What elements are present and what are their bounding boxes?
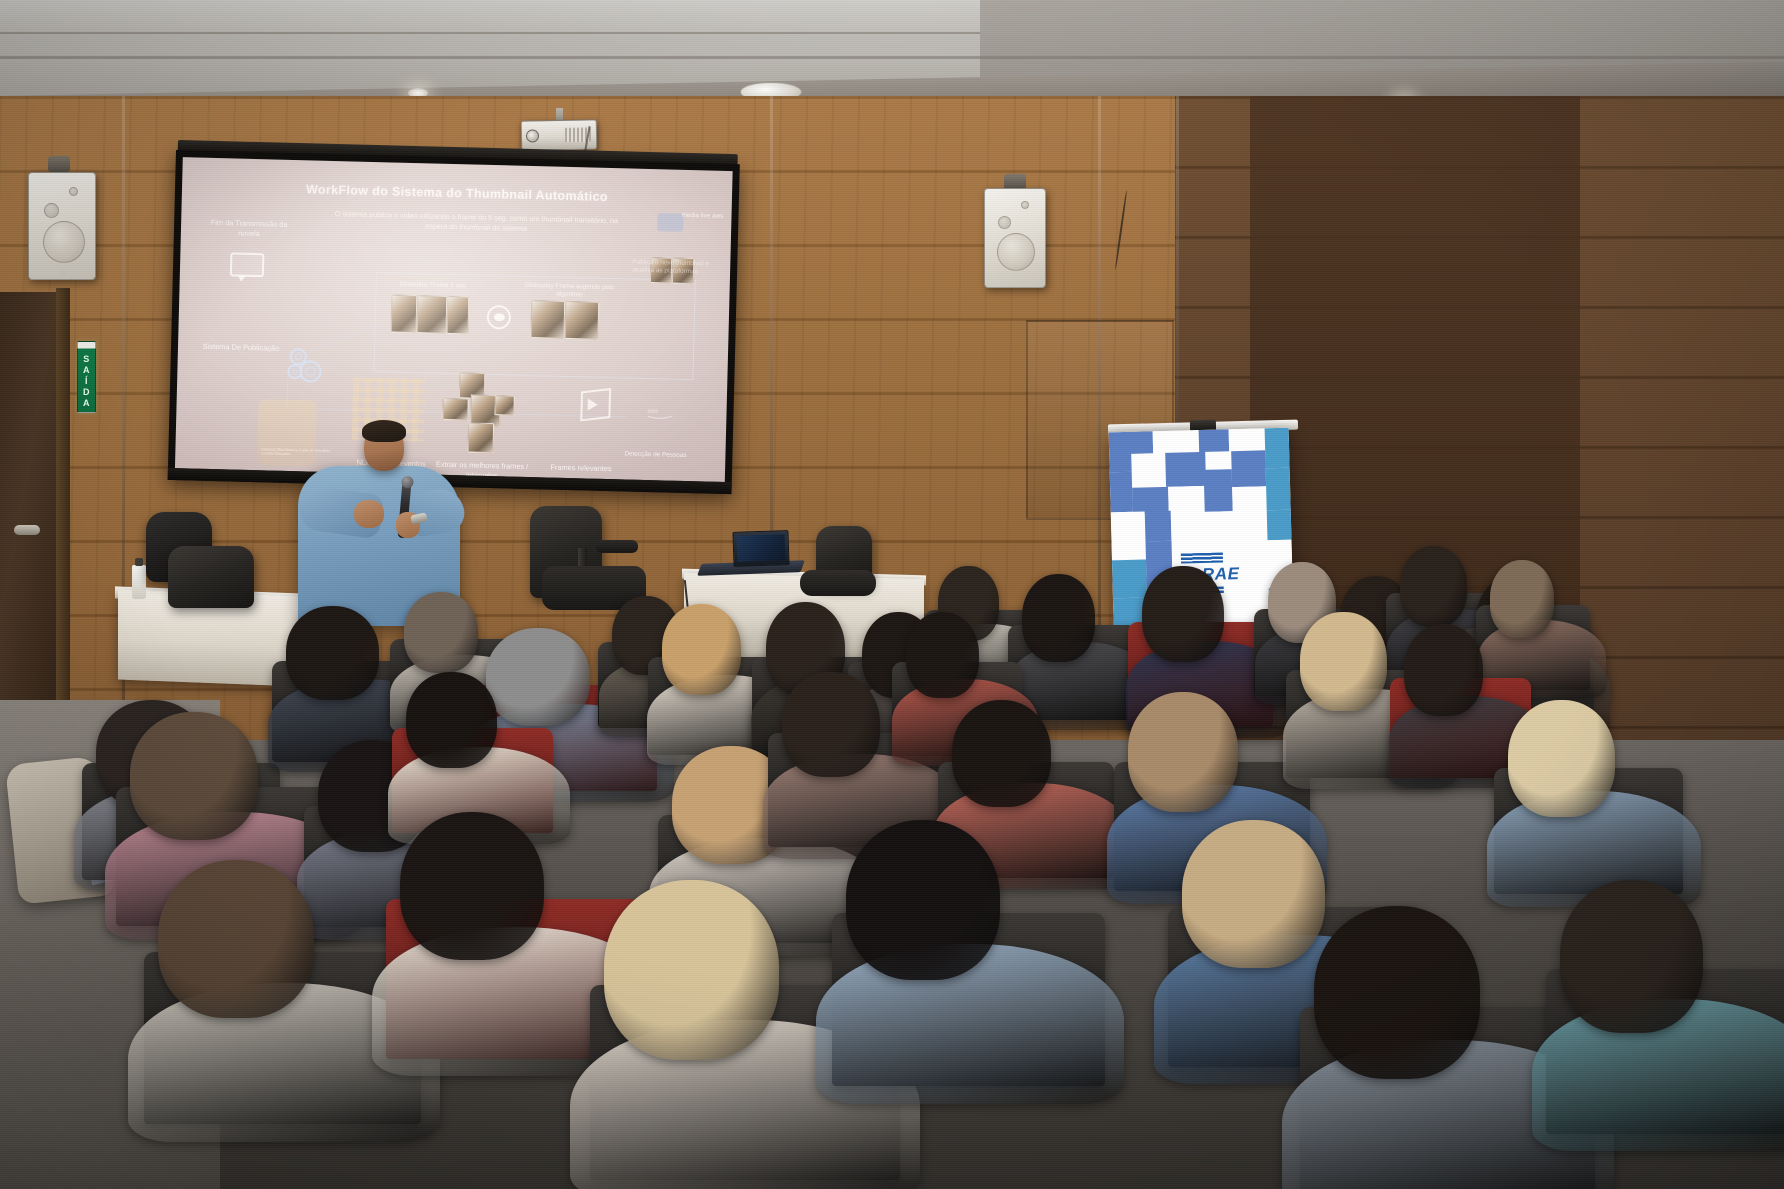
projector-lens-icon [526, 129, 539, 142]
woofer-icon [43, 221, 85, 263]
slide-label-end-broadcast: Fim da Transmissão da novela [209, 218, 289, 239]
frame-thumbnail [446, 296, 469, 335]
audience-head [906, 612, 979, 698]
projection-screen: WorkFlow do Sistema do Thumbnail Automát… [168, 150, 740, 494]
audience-head [1400, 546, 1467, 627]
audience-head [662, 604, 741, 695]
office-chair-armrest [596, 540, 638, 553]
audience-head [130, 712, 258, 840]
frame-thumbnail [530, 300, 565, 339]
wall-speaker-right [984, 188, 1046, 288]
presenter-left-hand [354, 500, 384, 528]
audience-head [952, 700, 1051, 807]
door-handle[interactable] [14, 525, 40, 535]
tweeter-icon [1021, 201, 1029, 209]
slide-title: WorkFlow do Sistema do Thumbnail Automát… [306, 182, 608, 204]
slide-label-frame-suggested: Globoplay Frame sugerido pelo algoritmo [519, 282, 619, 301]
exit-letter: A [83, 398, 90, 409]
slide-flow-line [309, 324, 381, 352]
audience-head [1404, 624, 1483, 716]
audience-head [1508, 700, 1615, 817]
audience-head [400, 812, 544, 960]
audience-head [1182, 820, 1325, 968]
frame-thumbnail [467, 422, 494, 453]
slide-label-publish-thumb: Publica o novo thumbnail e atualiza as p… [632, 259, 710, 277]
wall-speaker-left [28, 172, 96, 280]
slide-label-publishing-system: Sistema De Publicação [202, 342, 280, 353]
sebrae-logo-bars-icon [1181, 552, 1223, 563]
audience-head [604, 880, 779, 1060]
gear-icon [299, 360, 322, 383]
office-chair-backrest[interactable] [168, 546, 254, 608]
ceiling-seam [0, 56, 1784, 59]
hand-sanitizer-bottle [132, 565, 146, 599]
port-icon [998, 216, 1011, 229]
aws-logo-icon: aws [646, 405, 674, 422]
tweeter-icon [69, 187, 78, 196]
screen-surface: WorkFlow do Sistema do Thumbnail Automát… [175, 157, 733, 482]
presenter-laptop[interactable] [732, 530, 789, 567]
presenter-hair [362, 420, 406, 442]
frame-thumbnail [494, 395, 514, 415]
audience-head [1142, 566, 1224, 662]
speaker-led-icon [61, 271, 66, 276]
frame-thumbnail [416, 295, 447, 334]
slide-label-relevant-frames: Frames relevantes [537, 462, 625, 474]
audience-head [782, 672, 880, 777]
port-icon [44, 203, 59, 218]
audience-head [1560, 880, 1703, 1033]
person-detection-icon [580, 389, 611, 420]
audience-head [486, 628, 590, 726]
slide-label-person-detection: Detecção de Pessoas [611, 450, 699, 460]
audience-head [404, 592, 478, 673]
audience-head [846, 820, 1000, 980]
audience-head [286, 606, 379, 700]
exit-letter: A [83, 365, 90, 376]
audience-head [1022, 574, 1095, 662]
frame-thumbnail [442, 398, 469, 421]
slide-label-media-live: media live aws [681, 212, 725, 221]
audience-head [1314, 906, 1480, 1079]
slide-content: WorkFlow do Sistema do Thumbnail Automát… [175, 157, 733, 482]
audience-head [1128, 692, 1238, 812]
frame-thumbnail [564, 301, 599, 340]
frame-thumbnail [390, 294, 417, 333]
exit-letter: Í [85, 376, 88, 387]
audience-head [1490, 560, 1554, 638]
audience-head [406, 672, 497, 768]
exit-letter: D [83, 387, 90, 398]
audience-head [1300, 612, 1387, 711]
svg-text:aws: aws [647, 409, 658, 415]
woofer-icon [997, 233, 1035, 271]
office-chair-seat[interactable] [800, 570, 876, 596]
laptop-screen [737, 534, 786, 562]
audience-head [158, 860, 314, 1018]
speaker-mount [48, 156, 70, 172]
slide-subtitle: O sistema publica o vídeo utilizando o f… [331, 209, 621, 235]
exit-sign: S A Í D A [77, 341, 96, 413]
auditorium-photo-scene: S A Í D A WorkFlow do Sistema do Thumbna… [0, 0, 1784, 1189]
exit-letter: S [83, 354, 90, 365]
tv-icon [230, 252, 265, 277]
media-live-icon [657, 213, 683, 232]
